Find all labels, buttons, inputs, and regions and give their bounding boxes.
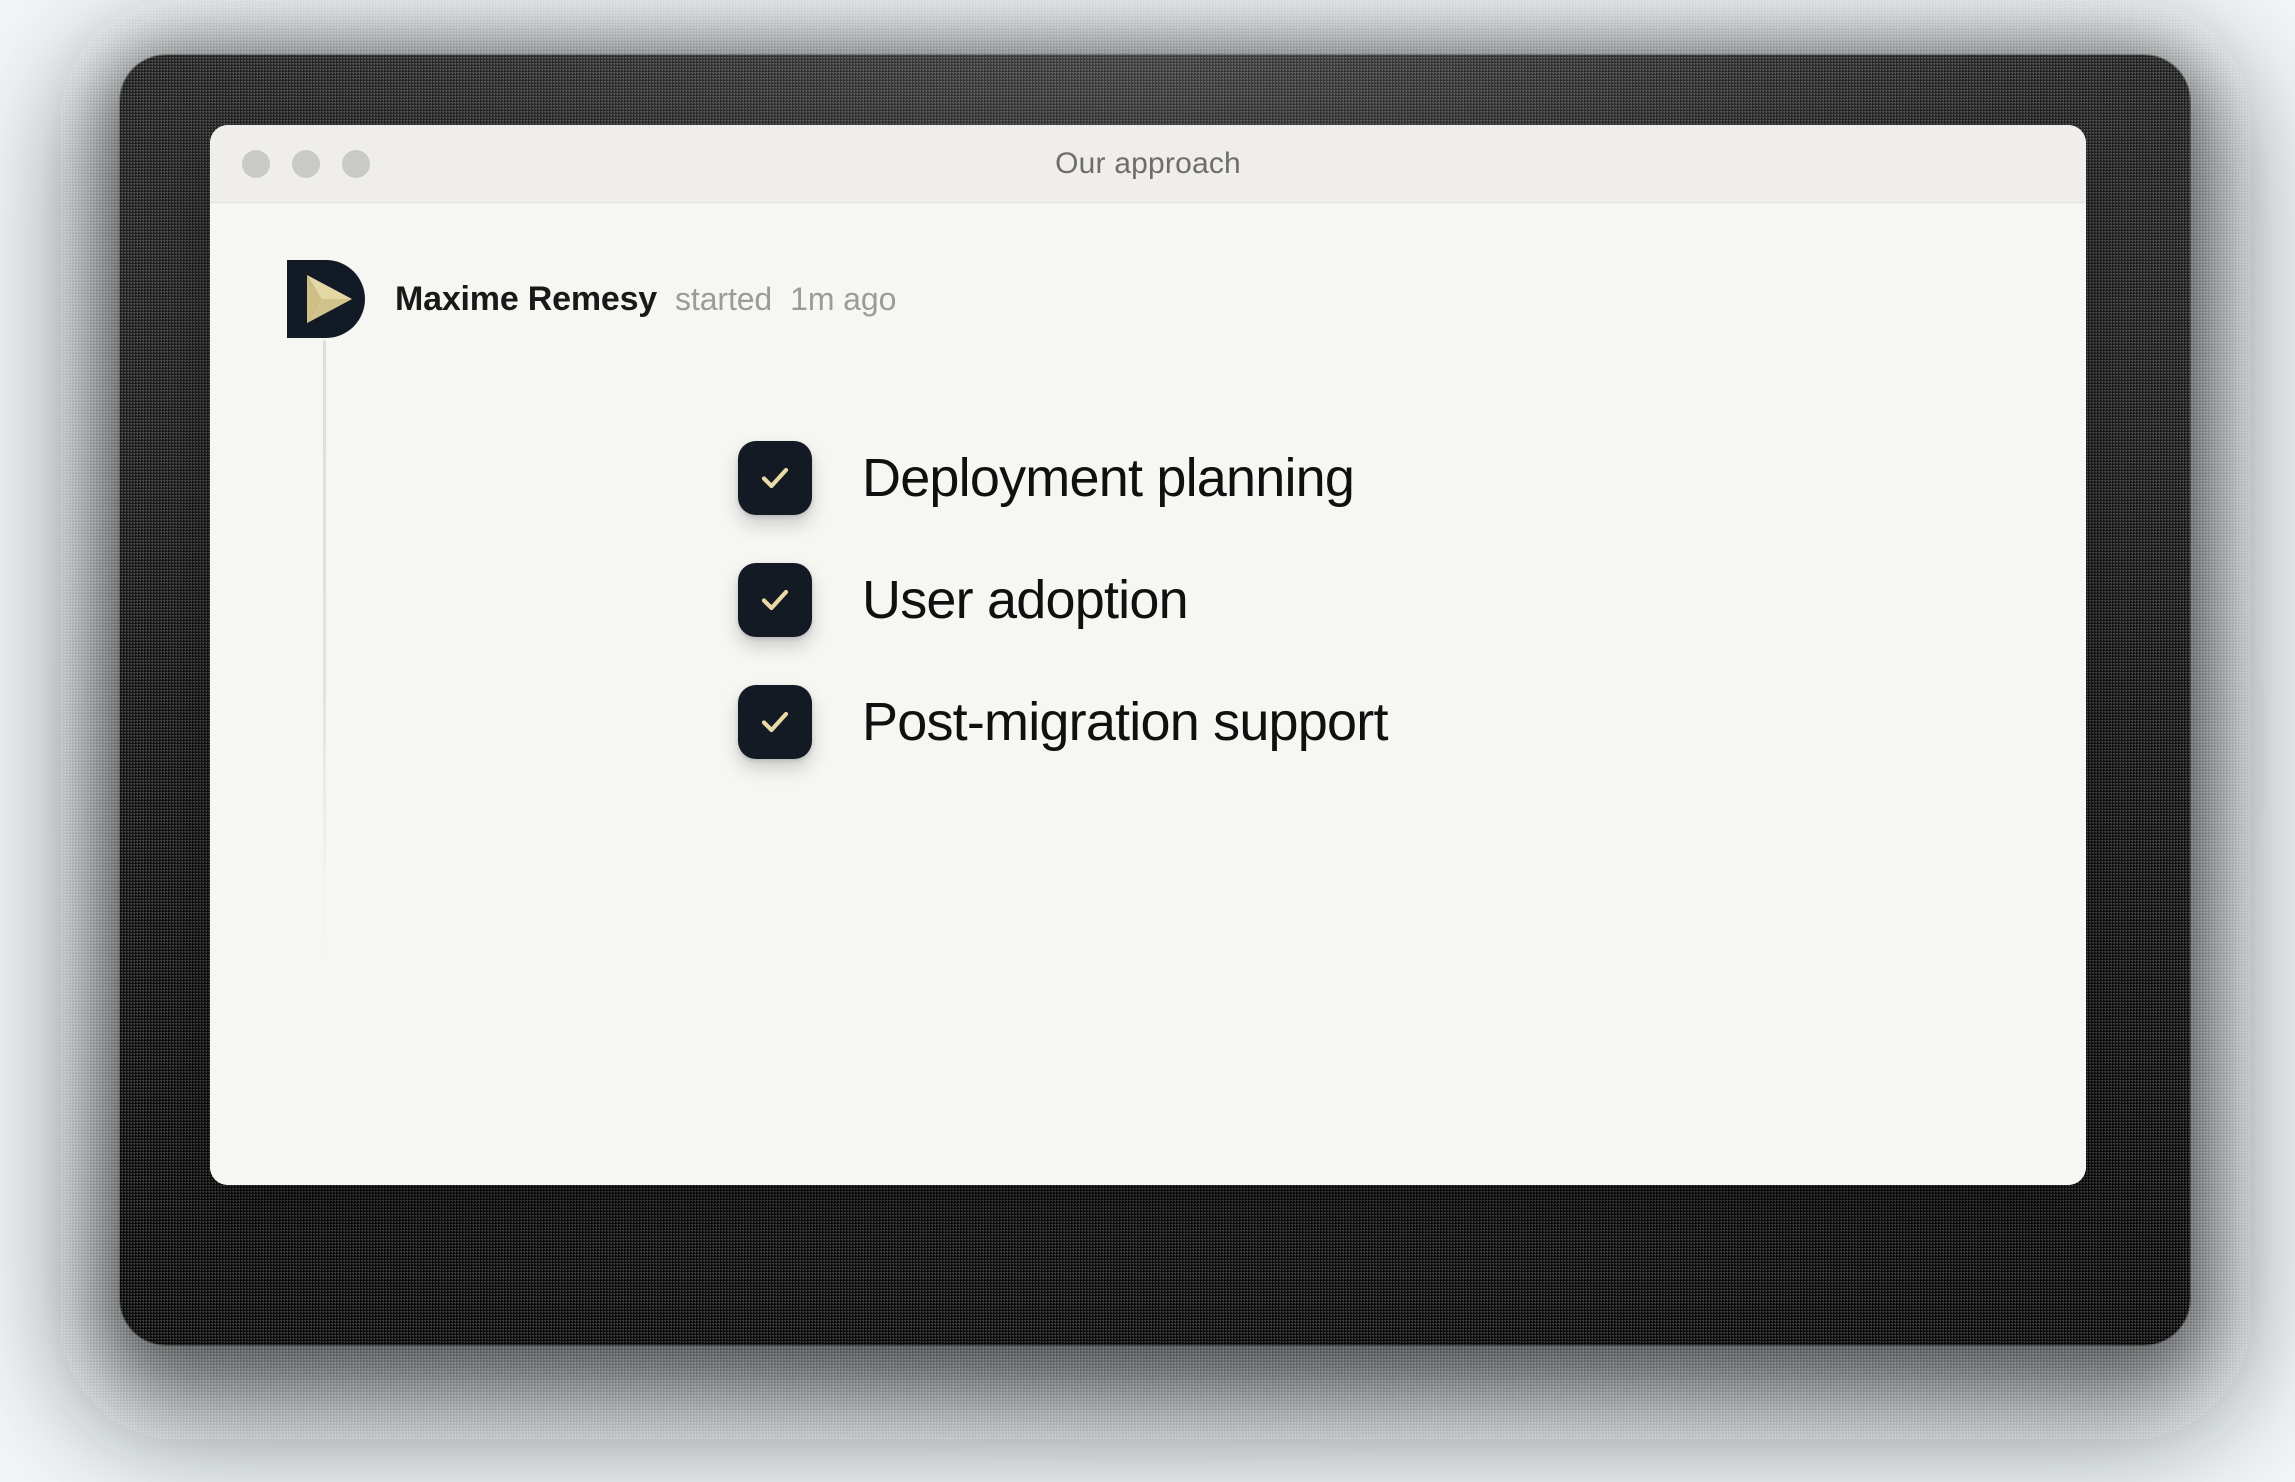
checkbox-checked[interactable] (738, 441, 812, 515)
checklist-item[interactable]: Post-migration support (738, 685, 1388, 759)
timestamp: 1m ago (790, 281, 896, 318)
minimize-button-icon[interactable] (292, 150, 320, 178)
checkbox-checked[interactable] (738, 563, 812, 637)
checklist-item-label: Post-migration support (862, 695, 1388, 749)
app-window: Our approach Maxime Remesy started 1m ag… (210, 125, 2086, 1185)
brand-d-arrow-logo-icon (285, 258, 367, 340)
checklist-item[interactable]: Deployment planning (738, 441, 1388, 515)
zoom-button-icon[interactable] (342, 150, 370, 178)
close-button-icon[interactable] (242, 150, 270, 178)
checklist-item[interactable]: User adoption (738, 563, 1388, 637)
post-meta: Maxime Remesy started 1m ago (395, 280, 896, 319)
window-title: Our approach (210, 147, 2086, 181)
page-canvas: Our approach Maxime Remesy started 1m ag… (0, 0, 2295, 1482)
avatar[interactable] (285, 258, 367, 340)
author-name[interactable]: Maxime Remesy (395, 280, 657, 319)
checkbox-checked[interactable] (738, 685, 812, 759)
window-titlebar: Our approach (210, 125, 2086, 203)
window-content: Maxime Remesy started 1m ago Deployment … (210, 203, 2086, 1185)
checklist-item-label: Deployment planning (862, 451, 1354, 505)
traffic-light-group (242, 150, 370, 178)
post-header: Maxime Remesy started 1m ago (285, 258, 896, 340)
checklist: Deployment planning User adoption (738, 441, 1388, 759)
check-icon (755, 580, 795, 620)
check-icon (755, 702, 795, 742)
action-verb: started (675, 281, 772, 318)
check-icon (755, 458, 795, 498)
checklist-item-label: User adoption (862, 573, 1188, 627)
thread-rail (323, 340, 326, 970)
